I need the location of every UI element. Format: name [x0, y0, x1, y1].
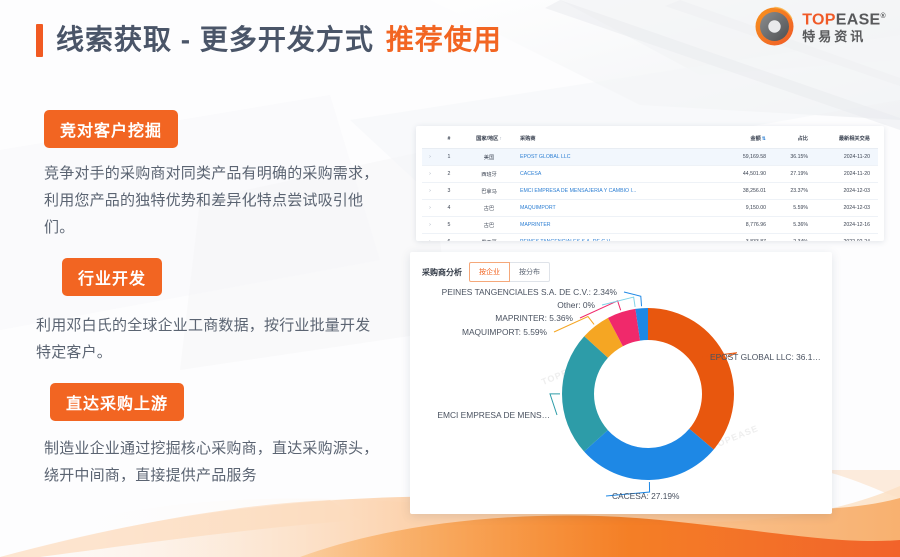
cell-percent: 36.15% [768, 149, 810, 166]
cell-country: 古巴 [460, 200, 518, 217]
cell-buyer[interactable]: CACESA [518, 166, 716, 183]
col-latest-deal: 最新相关交易 [810, 130, 878, 149]
slice-label: MAQUIMPORT: 5.59% [462, 327, 548, 337]
cell-index: 3 [438, 183, 460, 200]
page-header: 线索获取 - 更多开发方式 推荐使用 TOPEASE® [0, 0, 900, 92]
leader-line [550, 394, 560, 415]
feature-badge: 竞对客户挖掘 [44, 110, 178, 148]
col-expand [422, 130, 438, 149]
row-expand-icon[interactable]: › [422, 149, 438, 166]
col-country-label: 国家/地区 [476, 136, 498, 142]
feature-section-industry: 行业开发 利用邓白氏的全球企业工商数据，按行业批量开发特定客户。 [0, 258, 410, 366]
col-percent: 占比 [768, 130, 810, 149]
col-amount[interactable]: 金额⇅ [716, 130, 768, 149]
slice-label: MAPRINTER: 5.36% [495, 313, 573, 323]
table-header-row: # 国家/地区↑ 采购商 金额⇅ 占比 最新相关交易 [422, 130, 878, 149]
chart-tabs: 按企业 按分布 [469, 262, 550, 282]
cell-amount: 59,169.58 [716, 149, 768, 166]
feature-paragraph: 制造业企业通过挖掘核心采购商，直达采购源头，绕开中间商，直接提供产品服务 [44, 435, 384, 489]
cell-country: 巴拿马 [460, 183, 518, 200]
buyers-table: # 国家/地区↑ 采购商 金额⇅ 占比 最新相关交易 ›1美国EPOST GLO… [422, 130, 878, 241]
table-row[interactable]: ›6墨西哥PEINES TANGENCIALES S.A. DE C.V.3,8… [422, 234, 878, 242]
row-expand-icon[interactable]: › [422, 217, 438, 234]
table-row[interactable]: ›1美国EPOST GLOBAL LLC59,169.5836.15%2024-… [422, 149, 878, 166]
row-expand-icon[interactable]: › [422, 234, 438, 242]
page-title: 线索获取 - 更多开发方式 推荐使用 [36, 23, 502, 57]
donut-slice[interactable] [584, 429, 714, 480]
cell-country: 西班牙 [460, 166, 518, 183]
slice-label: EMCI EMPRESA DE MENS… [437, 410, 550, 420]
col-country[interactable]: 国家/地区↑ [460, 130, 518, 149]
cell-latest-deal: 2024-11-20 [810, 149, 878, 166]
cell-latest-deal: 2024-12-03 [810, 183, 878, 200]
cell-percent: 5.59% [768, 200, 810, 217]
buyer-link[interactable]: EMCI EMPRESA DE MENSAJERIA Y CAMBIO I... [520, 188, 636, 194]
cell-index: 1 [438, 149, 460, 166]
feature-list: 竞对客户挖掘 竞争对手的采购商对同类产品有明确的采购需求，利用您产品的独特优势和… [0, 110, 410, 506]
logo-circle-icon [754, 6, 795, 47]
table-header: # 国家/地区↑ 采购商 金额⇅ 占比 最新相关交易 [422, 130, 878, 149]
cell-index: 6 [438, 234, 460, 242]
feature-badge: 直达采购上游 [50, 383, 184, 421]
cell-percent: 2.34% [768, 234, 810, 242]
slice-label: Other: 0% [557, 300, 595, 310]
feature-section-upstream: 直达采购上游 制造业企业通过挖掘核心采购商，直达采购源头，绕开中间商，直接提供产… [0, 383, 410, 489]
brand-logo: TOPEASE® 特易资讯 [754, 6, 886, 47]
logo-subtitle: 特易资讯 [802, 29, 886, 45]
slice-label: EPOST GLOBAL LLC: 36.1… [710, 352, 821, 362]
buyer-link[interactable]: PEINES TANGENCIALES S.A. DE C.V. [520, 239, 611, 241]
row-expand-icon[interactable]: › [422, 166, 438, 183]
slice-label: CACESA: 27.19% [612, 491, 680, 501]
buyers-table-card: # 国家/地区↑ 采购商 金额⇅ 占比 最新相关交易 ›1美国EPOST GLO… [416, 126, 884, 241]
page-title-main: 线索获取 - 更多开发方式 [56, 23, 374, 57]
feature-badge: 行业开发 [62, 258, 162, 296]
buyer-link[interactable]: EPOST GLOBAL LLC [520, 154, 570, 160]
chart-panel-title: 采购商分析 [422, 267, 462, 278]
feature-section-competitor: 竞对客户挖掘 竞争对手的采购商对同类产品有明确的采购需求，利用您产品的独特优势和… [0, 110, 410, 241]
tab-by-company[interactable]: 按企业 [469, 262, 510, 282]
page-title-accent: 推荐使用 [386, 23, 502, 57]
col-amount-label: 金额 [750, 136, 760, 142]
cell-country: 古巴 [460, 217, 518, 234]
cell-latest-deal: 2024-12-16 [810, 217, 878, 234]
cell-index: 4 [438, 200, 460, 217]
logo-word-top: TOP [802, 11, 836, 28]
cell-country: 墨西哥 [460, 234, 518, 242]
cell-buyer[interactable]: PEINES TANGENCIALES S.A. DE C.V. [518, 234, 716, 242]
table-body: ›1美国EPOST GLOBAL LLC59,169.5836.15%2024-… [422, 149, 878, 242]
feature-paragraph: 竞争对手的采购商对同类产品有明确的采购需求，利用您产品的独特优势和差异化特点尝试… [44, 160, 384, 241]
cell-index: 2 [438, 166, 460, 183]
title-accent-bar [36, 24, 43, 57]
cell-buyer[interactable]: MAPRINTER [518, 217, 716, 234]
logo-wordmark: TOPEASE® [802, 8, 886, 28]
cell-amount: 8,776.96 [716, 217, 768, 234]
cell-amount: 44,501.90 [716, 166, 768, 183]
row-expand-icon[interactable]: › [422, 200, 438, 217]
logo-word-ease: EASE [836, 11, 881, 28]
row-expand-icon[interactable]: › [422, 183, 438, 200]
cell-amount: 9,150.00 [716, 200, 768, 217]
col-index: # [438, 130, 460, 149]
chart-header: 采购商分析 按企业 按分布 [410, 252, 832, 282]
cell-percent: 23.37% [768, 183, 810, 200]
donut-slice[interactable] [648, 308, 734, 449]
cell-country: 美国 [460, 149, 518, 166]
cell-latest-deal: 2024-11-20 [810, 166, 878, 183]
cell-index: 5 [438, 217, 460, 234]
donut-slice[interactable] [562, 336, 608, 451]
sort-toggle-icon[interactable]: ⇅ [762, 136, 766, 142]
table-row[interactable]: ›4古巴MAQUIMPORT9,150.005.59%2024-12-03 [422, 200, 878, 217]
table-row[interactable]: ›5古巴MAPRINTER8,776.965.36%2024-12-16 [422, 217, 878, 234]
table-row[interactable]: ›2西班牙CACESA44,501.9027.19%2024-11-20 [422, 166, 878, 183]
col-buyer: 采购商 [518, 130, 716, 149]
feature-paragraph: 利用邓白氏的全球企业工商数据，按行业批量开发特定客户。 [36, 312, 376, 366]
cell-buyer[interactable]: EPOST GLOBAL LLC [518, 149, 716, 166]
logo-text: TOPEASE® 特易资讯 [802, 8, 886, 45]
cell-latest-deal: 2022-02-24 [810, 234, 878, 242]
slice-label: PEINES TANGENCIALES S.A. DE C.V.: 2.34% [442, 287, 618, 297]
sort-asc-icon[interactable]: ↑ [499, 136, 502, 142]
cell-percent: 5.36% [768, 217, 810, 234]
buyer-analysis-card: 采购商分析 按企业 按分布 TOPEASE TOPEASE EPOST GLOB… [410, 252, 832, 514]
table-row[interactable]: ›3巴拿马EMCI EMPRESA DE MENSAJERIA Y CAMBIO… [422, 183, 878, 200]
buyer-link[interactable]: CACESA [520, 171, 541, 177]
cell-percent: 27.19% [768, 166, 810, 183]
cell-latest-deal: 2024-12-03 [810, 200, 878, 217]
tab-by-distribution[interactable]: 按分布 [510, 262, 550, 282]
buyer-link[interactable]: MAQUIMPORT [520, 205, 556, 211]
donut-chart[interactable]: TOPEASE TOPEASE EPOST GLOBAL LLC: 36.1…C… [410, 282, 832, 507]
buyer-link[interactable]: MAPRINTER [520, 222, 551, 228]
cell-amount: 38,256.01 [716, 183, 768, 200]
cell-buyer[interactable]: MAQUIMPORT [518, 200, 716, 217]
registered-mark: ® [881, 13, 886, 20]
cell-buyer[interactable]: EMCI EMPRESA DE MENSAJERIA Y CAMBIO I... [518, 183, 716, 200]
cell-amount: 3,833.87 [716, 234, 768, 242]
